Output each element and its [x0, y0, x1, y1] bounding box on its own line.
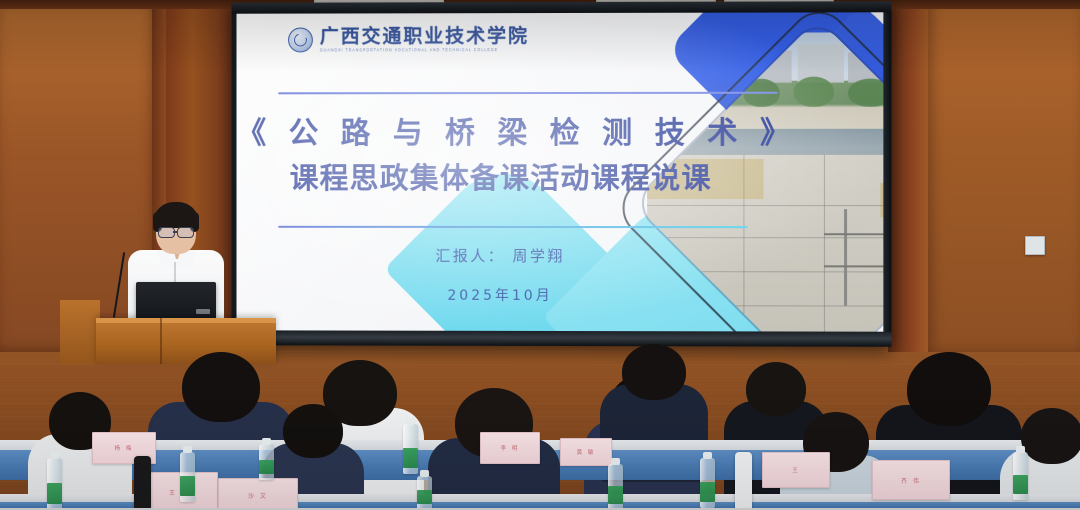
slide-presenter: 汇报人： 周学翔 [237, 245, 766, 267]
audience-member-head [1021, 408, 1080, 464]
name-placard: 王 红 [140, 472, 218, 510]
bottle-cap [420, 470, 429, 477]
college-emblem-icon [288, 28, 313, 53]
name-placard-text: 杨 梅 [115, 444, 134, 452]
glasses-lens-right [177, 227, 194, 238]
bottle-label [700, 482, 715, 502]
wall-switch-plate[interactable] [1025, 236, 1045, 255]
screenshot-frame: 广西交通职业技术学院 GUANGXI TRANSPORTATION VOCATI… [0, 0, 1080, 510]
glasses-bridge [173, 231, 178, 233]
water-bottle [1013, 452, 1028, 500]
water-bottle [417, 476, 432, 510]
name-placard: 李 明 [480, 432, 540, 464]
audience-member-head [907, 352, 991, 426]
college-name-en: GUANGXI TRANSPORTATION VOCATIONAL AND TE… [320, 49, 529, 53]
slide-content: 广西交通职业技术学院 GUANGXI TRANSPORTATION VOCATI… [237, 12, 884, 331]
name-placard: 齐 伟 [872, 460, 950, 500]
bottle-cap [262, 438, 271, 445]
name-placard-text: 沙 文 [248, 491, 268, 500]
audience-member-head [622, 344, 686, 400]
bottle-label [608, 486, 623, 504]
water-bottle [47, 458, 62, 510]
water-bottle [180, 452, 195, 502]
bottle-cap [183, 446, 192, 453]
name-placard-text: 齐 伟 [901, 476, 921, 485]
right-wood-panel [928, 0, 1080, 352]
bottle-label [1013, 475, 1028, 494]
bottle-cap [611, 458, 620, 465]
bottle-label [47, 483, 62, 504]
bottle-cap [50, 452, 59, 459]
college-name-cn: 广西交通职业技术学院 [320, 27, 529, 46]
water-bottle [700, 458, 715, 508]
name-placard: 王 [762, 452, 830, 488]
bottle-label [259, 460, 274, 474]
slide-title-line1: 《 公 路 与 桥 梁 检 测 技 术 》 [237, 108, 766, 152]
lectern-top-edge [96, 318, 276, 323]
thermos-flask [735, 452, 752, 510]
bottle-label [403, 448, 418, 468]
bottle-cap [703, 452, 712, 459]
name-placard-text: 王 [792, 466, 800, 474]
bottle-label [417, 490, 432, 504]
water-bottle [403, 424, 418, 474]
podium-side-panel [60, 300, 100, 364]
bottle-cap [1016, 446, 1025, 453]
name-placard: 黄 敏 [560, 438, 612, 466]
slide-date: 2025年10月 [237, 285, 766, 306]
name-placard-text: 黄 敏 [577, 448, 596, 456]
water-bottle [608, 464, 623, 510]
laptop-lid-logo [196, 309, 210, 314]
thermos-flask [134, 456, 151, 510]
presentation-slide: 广西交通职业技术学院 GUANGXI TRANSPORTATION VOCATI… [237, 12, 884, 331]
slide-title-line2: 课程思政集体备课活动课程说课 [237, 155, 766, 197]
divider-top [278, 92, 777, 95]
divider-bottom [278, 226, 747, 229]
right-dark-pillar [888, 0, 928, 352]
audience-member-head [182, 352, 260, 422]
water-bottle [259, 444, 274, 480]
audience-member-head [746, 362, 806, 416]
audience-member-head [283, 404, 343, 458]
screen-bezel-bottom [232, 330, 892, 346]
projection-screen: 广西交通职业技术学院 GUANGXI TRANSPORTATION VOCATI… [232, 1, 892, 347]
name-placard: 沙 文 [218, 478, 298, 510]
bottle-label [180, 476, 195, 496]
bottle-cap [406, 418, 415, 425]
college-logo: 广西交通职业技术学院 GUANGXI TRANSPORTATION VOCATI… [288, 27, 529, 53]
screen-bezel-right [883, 1, 891, 347]
name-placard-text: 李 明 [501, 444, 520, 452]
presenter-laptop[interactable] [136, 282, 216, 319]
